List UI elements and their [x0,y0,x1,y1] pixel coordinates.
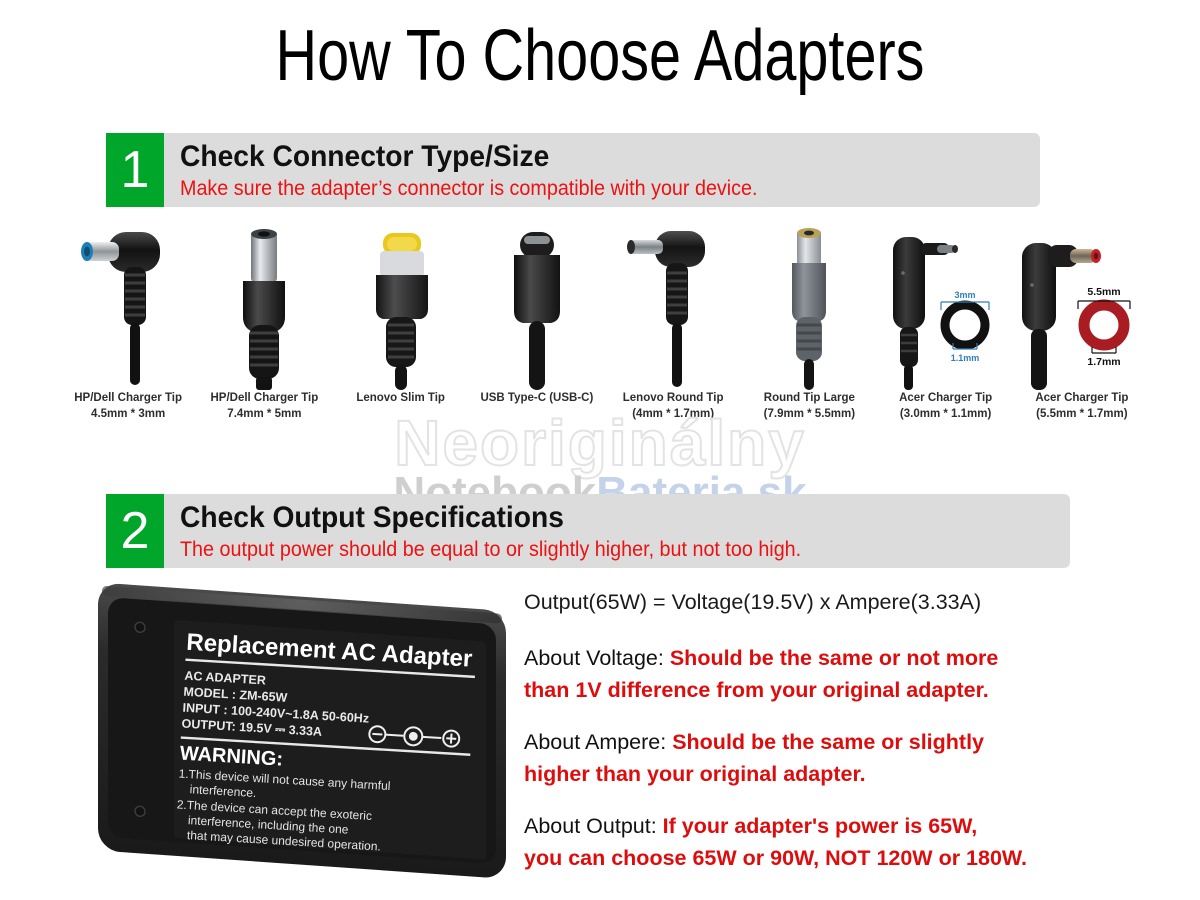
hp-dell-4515-tip-icon [60,225,196,390]
connector-item-lenovo-round: Lenovo Round Tip (4mm * 1.7mm) [605,225,741,422]
connector-label-line1: Round Tip Large [764,390,855,406]
page-title: How To Choose Adapters [120,14,1080,98]
spec-ampere-value-line2: higher than your original adapter. [524,758,1184,790]
connector-label-line2: (4mm * 1.7mm) [632,406,714,422]
connector-label-line1: Lenovo Round Tip [623,390,724,406]
svg-text:1.7mm: 1.7mm [1087,356,1120,368]
connector-item-usb-c: USB Type-C (USB-C) [469,225,605,406]
connector-label-line2: 4.5mm * 3mm [91,406,165,422]
spec-ampere: About Ampere: Should be the same or slig… [524,726,1184,790]
lenovo-slim-tip-icon [333,225,469,390]
round-tip-large-icon [741,225,877,390]
spec-ampere-label: About Ampere: [524,730,672,754]
infographic-page: How To Choose Adapters 1 Check Connector… [0,0,1200,900]
step-1-title: Check Connector Type/Size [180,140,988,174]
svg-text:3mm: 3mm [954,290,975,300]
hp-dell-7450-tip-icon [196,225,332,390]
connector-item-hp-dell-4515: HP/Dell Charger Tip 4.5mm * 3mm [60,225,196,422]
step-1-header: 1 Check Connector Type/Size Make sure th… [106,133,1040,207]
usb-type-c-icon [469,225,605,390]
connector-label-line1: USB Type-C (USB-C) [480,390,593,406]
ac-adapter-photo: Replacement AC Adapter AC ADAPTER MODEL … [92,580,512,890]
step-1-text-block: Check Connector Type/Size Make sure the … [164,133,1040,207]
connector-label-line1: Acer Charger Tip [1035,390,1128,406]
spec-voltage-value-line1: Should be the same or not more [670,646,999,670]
step-2-header: 2 Check Output Specifications The output… [106,494,1070,568]
spec-output-value-line2: you can choose 65W or 90W, NOT 120W or 1… [524,842,1184,874]
connector-gallery: HP/Dell Charger Tip 4.5mm * 3mm [60,225,1150,440]
svg-text:1.1mm: 1.1mm [950,353,979,363]
connector-label-line1: Lenovo Slim Tip [356,390,445,406]
spec-output-label: About Output: [524,814,663,838]
output-spec-text: Output(65W) = Voltage(19.5V) x Ampere(3.… [524,588,1184,894]
spec-voltage: About Voltage: Should be the same or not… [524,642,1184,706]
connector-label-line1: HP/Dell Charger Tip [210,390,318,406]
spec-output-value-line1: If your adapter's power is 65W, [663,814,978,838]
spec-output: About Output: If your adapter's power is… [524,810,1184,874]
step-2-number: 2 [106,494,164,568]
step-2-subtitle: The output power should be equal to or s… [180,537,1017,563]
step-1-number: 1 [106,133,164,207]
step-1-subtitle: Make sure the adapter’s connector is com… [180,176,988,202]
connector-label-line2: (3.0mm * 1.1mm) [900,406,991,422]
connector-item-hp-dell-7450: HP/Dell Charger Tip 7.4mm * 5mm [196,225,332,422]
connector-label-line1: HP/Dell Charger Tip [74,390,182,406]
acer-5517-tip-icon: 5.5mm 1.7mm [1014,225,1150,390]
spec-voltage-label: About Voltage: [524,646,670,670]
step-2-title: Check Output Specifications [180,501,1017,535]
connector-label-line2: 7.4mm * 5mm [227,406,301,422]
connector-item-round-large: Round Tip Large (7.9mm * 5.5mm) [741,225,877,422]
spec-ampere-value-line1: Should be the same or slightly [672,730,984,754]
step-2-text-block: Check Output Specifications The output p… [164,494,1070,568]
connector-item-lenovo-slim: Lenovo Slim Tip [333,225,469,406]
output-equation: Output(65W) = Voltage(19.5V) x Ampere(3.… [524,588,1184,616]
connector-item-acer-3011: 3mm 1.1mm Acer Charger Tip (3.0mm * 1.1m… [878,225,1014,422]
connector-label-line2: (5.5mm * 1.7mm) [1036,406,1127,422]
spec-voltage-value-line2: than 1V difference from your original ad… [524,674,1184,706]
svg-text:5.5mm: 5.5mm [1087,286,1120,298]
acer-3011-tip-icon: 3mm 1.1mm [878,225,1014,390]
lenovo-round-tip-icon [605,225,741,390]
connector-label-line1: Acer Charger Tip [899,390,992,406]
connector-label-line2: (7.9mm * 5.5mm) [764,406,855,422]
connector-item-acer-5517: 5.5mm 1.7mm Acer Charger Tip (5.5mm * 1.… [1014,225,1150,422]
